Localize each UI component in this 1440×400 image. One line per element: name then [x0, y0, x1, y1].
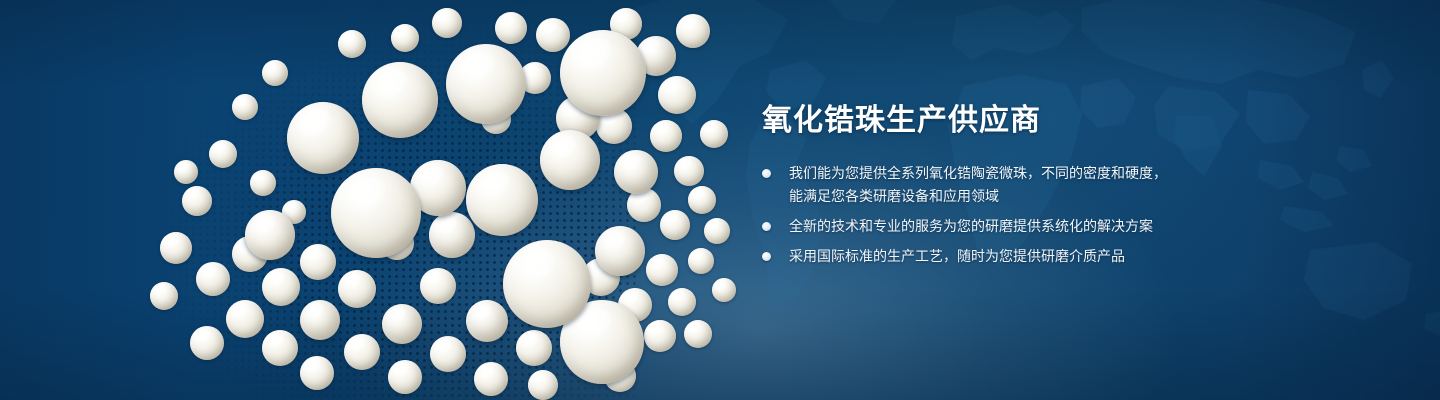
bullet-circle-icon	[762, 222, 771, 231]
hero-banner: 氧化锆珠生产供应商 我们能为您提供全系列氧化锆陶瓷微珠，不同的密度和硬度，能满足…	[0, 0, 1440, 400]
bullet-circle-icon	[762, 169, 771, 178]
feature-bullet-line: 全新的技术和专业的服务为您的研磨提供系统化的解决方案	[789, 215, 1282, 238]
feature-bullet-line: 我们能为您提供全系列氧化锆陶瓷微珠，不同的密度和硬度，	[789, 162, 1282, 185]
feature-bullet-line: 采用国际标准的生产工艺，随时为您提供研磨介质产品	[789, 245, 1282, 268]
bullet-circle-icon	[762, 252, 771, 261]
feature-bullet-item: 全新的技术和专业的服务为您的研磨提供系统化的解决方案	[762, 215, 1282, 238]
feature-bullet-item: 我们能为您提供全系列氧化锆陶瓷微珠，不同的密度和硬度，能满足您各类研磨设备和应用…	[762, 162, 1282, 208]
banner-feature-list: 我们能为您提供全系列氧化锆陶瓷微珠，不同的密度和硬度，能满足您各类研磨设备和应用…	[762, 162, 1282, 268]
banner-copy-block: 氧化锆珠生产供应商 我们能为您提供全系列氧化锆陶瓷微珠，不同的密度和硬度，能满足…	[762, 104, 1282, 268]
feature-bullet-line: 能满足您各类研磨设备和应用领域	[789, 185, 1282, 208]
feature-bullet-item: 采用国际标准的生产工艺，随时为您提供研磨介质产品	[762, 245, 1282, 268]
banner-title: 氧化锆珠生产供应商	[762, 104, 1282, 138]
